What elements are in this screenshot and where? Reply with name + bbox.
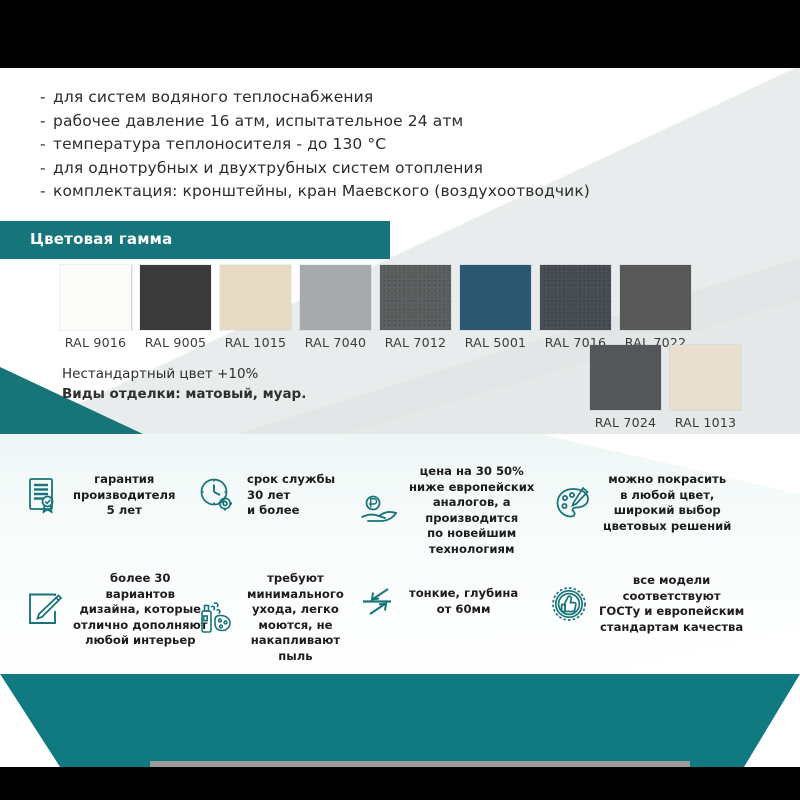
palette-brush-icon [552, 482, 594, 524]
spec-bullet-item: -для систем водяного теплоснабжения [40, 86, 640, 110]
color-swatch-label: RAL 5001 [460, 335, 531, 350]
bullet-dash-marker: - [40, 180, 53, 204]
feature-label: требуют минимального ухода, легко моются… [247, 571, 344, 664]
color-swatch-chip [300, 265, 371, 330]
feature-label: все модели соответствуют ГОСТу и европей… [599, 573, 744, 635]
feature-label: цена на 30 50% ниже европейских аналогов… [409, 464, 534, 557]
color-swatch-chip [460, 265, 531, 330]
bottom-band-shadow [150, 761, 690, 767]
spec-bullet-list: -для систем водяного теплоснабжения-рабо… [40, 86, 640, 204]
spec-bullet-item: -для однотрубных и двухтрубных систем от… [40, 157, 640, 181]
color-swatch-label: RAL 1013 [670, 415, 741, 430]
feature-item-service-life: срок службы 30 лет и более [196, 472, 335, 519]
feature-item-standards: все модели соответствуют ГОСТу и европей… [548, 573, 744, 635]
color-swatch[interactable]: RAL 1013 [670, 345, 741, 430]
spec-bullet-item: -комплектация: кронштейны, кран Маевског… [40, 180, 640, 204]
color-swatch-chip [590, 345, 661, 410]
feature-item-price: цена на 30 50% ниже европейских аналогов… [358, 464, 534, 557]
bullet-dash-marker: - [40, 157, 53, 181]
color-swatch[interactable]: RAL 5001 [460, 265, 531, 350]
swatch-row-secondary: RAL 7024RAL 1013 [590, 345, 741, 430]
bullet-text: комплектация: кронштейны, кран Маевского… [53, 182, 590, 200]
swatch-row-primary: RAL 9016RAL 9005RAL 1015RAL 7040RAL 7012… [60, 265, 691, 350]
bottom-teal-band [0, 674, 800, 767]
feature-item-easy-clean: требуют минимального ухода, легко моются… [196, 571, 344, 664]
spec-bullet-item: -температура теплоносителя - до 130 °C [40, 133, 640, 157]
bullet-text: для однотрубных и двухтрубных систем ото… [53, 159, 483, 177]
color-swatch-chip [380, 265, 451, 330]
spec-bullet-item: -рабочее давление 16 атм, испытательное … [40, 110, 640, 134]
bullet-dash-marker: - [40, 86, 53, 110]
color-swatch-label: RAL 9016 [60, 335, 131, 350]
color-gamma-title: Цветовая гамма [30, 230, 172, 248]
pencil-edit-icon [22, 589, 64, 631]
clock-gear-icon [196, 474, 238, 516]
color-swatch-label: RAL 1015 [220, 335, 291, 350]
color-swatch-label: RAL 7012 [380, 335, 451, 350]
color-swatch-chip [540, 265, 611, 330]
color-swatch-chip [670, 345, 741, 410]
color-swatch[interactable]: RAL 7024 [590, 345, 661, 430]
feature-item-designs: более 30 вариантов дизайна, которые отли… [22, 571, 208, 649]
bullet-text: для систем водяного теплоснабжения [53, 88, 373, 106]
bullet-dash-marker: - [40, 110, 53, 134]
certificate-icon [22, 474, 64, 516]
color-swatch-chip [140, 265, 211, 330]
color-swatch[interactable]: RAL 7012 [380, 265, 451, 350]
feature-label: срок службы 30 лет и более [247, 472, 335, 519]
bullet-text: рабочее давление 16 атм, испытательное 2… [53, 112, 463, 130]
feature-item-warranty: гарантия производителя 5 лет [22, 472, 175, 519]
color-swatch[interactable]: RAL 7016 [540, 265, 611, 350]
color-swatch-label: RAL 7040 [300, 335, 371, 350]
feature-label: более 30 вариантов дизайна, которые отли… [73, 571, 208, 649]
color-swatch[interactable]: RAL 9005 [140, 265, 211, 350]
color-swatch-chip [220, 265, 291, 330]
bullet-text: температура теплоносителя - до 130 °C [53, 135, 386, 153]
color-swatch-chip [620, 265, 691, 330]
color-swatch[interactable]: RAL 7022 [620, 265, 691, 350]
feature-label: тонкие, глубина от 60мм [409, 586, 518, 617]
note-custom-color: Нестандартный цвет +10% [62, 364, 306, 384]
color-swatch-label: RAL 7024 [590, 415, 661, 430]
slide-stage: -для систем водяного теплоснабжения-рабо… [0, 0, 800, 800]
color-swatch[interactable]: RAL 7040 [300, 265, 371, 350]
bullet-dash-marker: - [40, 133, 53, 157]
thin-arrows-icon [358, 581, 400, 623]
color-swatch[interactable]: RAL 1015 [220, 265, 291, 350]
quality-badge-icon [548, 583, 590, 625]
feature-item-slim-depth: тонкие, глубина от 60мм [358, 581, 518, 623]
hand-ruble-icon [358, 490, 400, 532]
color-swatch-chip [60, 265, 132, 330]
spray-sponge-icon [196, 597, 238, 639]
note-finish-types: Виды отделки: матовый, муар. [62, 384, 306, 404]
color-swatch-label: RAL 9005 [140, 335, 211, 350]
feature-label: гарантия производителя 5 лет [73, 472, 175, 519]
finish-notes: Нестандартный цвет +10% Виды отделки: ма… [62, 364, 306, 405]
feature-item-paintable: можно покрасить в любой цвет, широкий вы… [552, 472, 731, 534]
color-swatch[interactable]: RAL 9016 [60, 265, 131, 350]
slide-canvas: -для систем водяного теплоснабжения-рабо… [0, 68, 800, 767]
feature-label: можно покрасить в любой цвет, широкий вы… [603, 472, 731, 534]
